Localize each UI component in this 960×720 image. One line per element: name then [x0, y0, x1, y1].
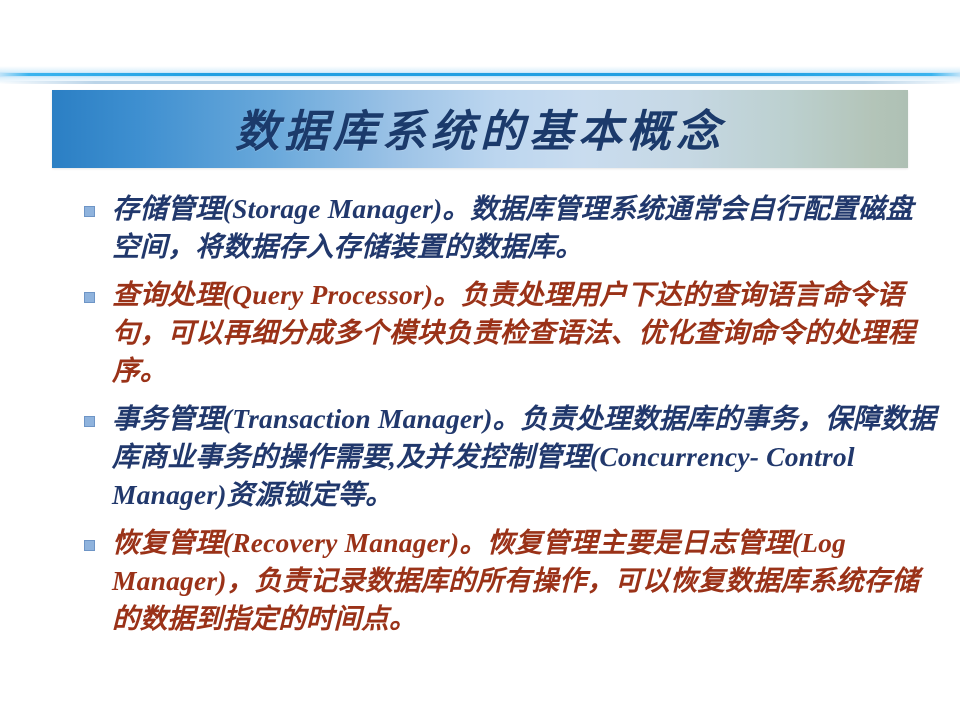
square-bullet-icon	[84, 206, 95, 217]
list-item: 查询处理(Query Processor)。负责处理用户下达的查询语言命令语句，…	[74, 276, 936, 390]
header-divider-shadow	[0, 81, 960, 84]
list-item: 恢复管理(Recovery Manager)。恢复管理主要是日志管理(Log M…	[74, 524, 936, 638]
page-title: 数据库系统的基本概念	[52, 96, 908, 160]
list-item: 事务管理(Transaction Manager)。负责处理数据库的事务，保障数…	[74, 400, 936, 514]
square-bullet-icon	[84, 416, 95, 427]
header-divider	[0, 66, 960, 84]
header-divider-line	[0, 73, 960, 76]
list-item-text: 事务管理(Transaction Manager)。负责处理数据库的事务，保障数…	[112, 403, 936, 510]
bullet-list: 存储管理(Storage Manager)。数据库管理系统通常会自行配置磁盘空间…	[74, 190, 936, 648]
list-item-text: 恢复管理(Recovery Manager)。恢复管理主要是日志管理(Log M…	[112, 527, 919, 634]
title-banner: 数据库系统的基本概念	[52, 90, 908, 168]
list-item-text: 查询处理(Query Processor)。负责处理用户下达的查询语言命令语句，…	[112, 279, 915, 386]
list-item: 存储管理(Storage Manager)。数据库管理系统通常会自行配置磁盘空间…	[74, 190, 936, 266]
slide-root: { "slide": { "title": "数据库系统的基本概念", "acc…	[0, 0, 960, 720]
list-item-text: 存储管理(Storage Manager)。数据库管理系统通常会自行配置磁盘空间…	[112, 193, 913, 262]
square-bullet-icon	[84, 540, 95, 551]
square-bullet-icon	[84, 292, 95, 303]
